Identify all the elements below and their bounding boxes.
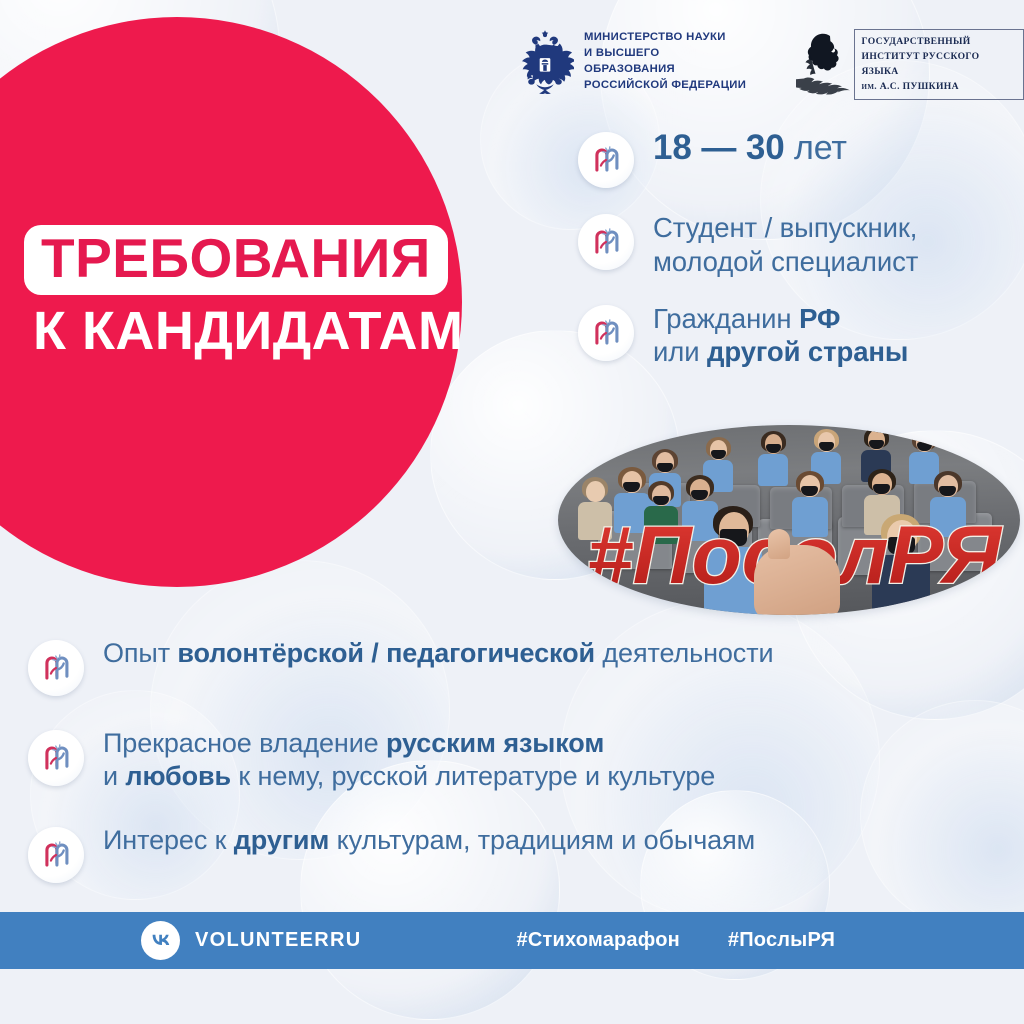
posolrya-badge-icon [28,640,84,696]
hashtag-poslyrya[interactable]: #ПослыРЯ [728,929,835,952]
pushkin-logo-text: ГОСУДАРСТВЕННЫЙ ИНСТИТУТ РУССКОГО ЯЗЫКА … [862,35,1015,94]
posolrya-glyph [36,648,76,688]
event-photo: #ПосолРЯ [558,425,1020,615]
posolrya-badge-icon [578,132,634,188]
posolrya-glyph [586,222,626,262]
title-line-2: К КАНДИДАТАМ [24,304,524,358]
pushkin-institute-logo: ГОСУДАРСТВЕННЫЙ ИНСТИТУТ РУССКОГО ЯЗЫКА … [796,26,1024,100]
pushkin-logo-box: ГОСУДАРСТВЕННЫЙ ИНСТИТУТ РУССКОГО ЯЗЫКА … [854,29,1024,100]
hashtag-stihomarafon[interactable]: #Стихомарафон [517,929,680,952]
list-item-text: Студент / выпускник,молодой специалист [653,210,918,279]
list-item: Гражданин РФили другой страны [578,301,1008,370]
posolrya-badge-icon [578,214,634,270]
header-logos: МИНИСТЕРСТВО НАУКИ И ВЫСШЕГО ОБРАЗОВАНИЯ… [516,26,1024,100]
list-item: Студент / выпускник,молодой специалист [578,210,1008,279]
posolrya-badge-icon [28,730,84,786]
posolrya-glyph [586,140,626,180]
title-badge: ТРЕБОВАНИЯ [24,225,448,295]
vk-handle[interactable]: VOLUNTEERRU [195,929,362,952]
ministry-logo: МИНИСТЕРСТВО НАУКИ И ВЫСШЕГО ОБРАЗОВАНИЯ… [516,26,750,96]
list-item-text: Интерес к другим культурам, традициям и … [103,823,755,857]
list-item-text: Опыт волонтёрской / педагогической деяте… [103,636,773,670]
list-item: Интерес к другим культурам, традициям и … [28,823,978,883]
page-title: ТРЕБОВАНИЯ К КАНДИДАТАМ [24,225,524,358]
requirements-list-bottom: Опыт волонтёрской / педагогической деяте… [28,636,978,883]
list-item-text: Гражданин РФили другой страны [653,301,908,370]
vk-glyph [148,928,173,953]
double-headed-eagle-icon [516,26,574,96]
pushkin-profile-icon [796,28,850,98]
hand-holding-sign [754,545,840,615]
vk-icon[interactable] [141,921,180,960]
posolrya-badge-icon [28,827,84,883]
posolrya-badge-icon [578,305,634,361]
posolrya-glyph [36,738,76,778]
list-item: Опыт волонтёрской / педагогической деяте… [28,636,978,696]
list-item: Прекрасное владение русским языкоми любо… [28,726,978,793]
ministry-logo-text: МИНИСТЕРСТВО НАУКИ И ВЫСШЕГО ОБРАЗОВАНИЯ… [584,29,750,93]
list-item-text: Прекрасное владение русским языкоми любо… [103,726,715,793]
footer-bar: VOLUNTEERRU #Стихомарафон #ПослыРЯ [0,912,1024,969]
posolrya-glyph [586,313,626,353]
list-item: 18 — 30 лет [578,128,1008,188]
poster-canvas: МИНИСТЕРСТВО НАУКИ И ВЫСШЕГО ОБРАЗОВАНИЯ… [0,0,1024,1024]
title-line-1: ТРЕБОВАНИЯ [41,231,431,286]
requirements-list-top: 18 — 30 лет Студент / выпускник,молодой … [578,128,1008,369]
list-item-text: 18 — 30 лет [653,128,847,168]
posolrya-glyph [36,835,76,875]
